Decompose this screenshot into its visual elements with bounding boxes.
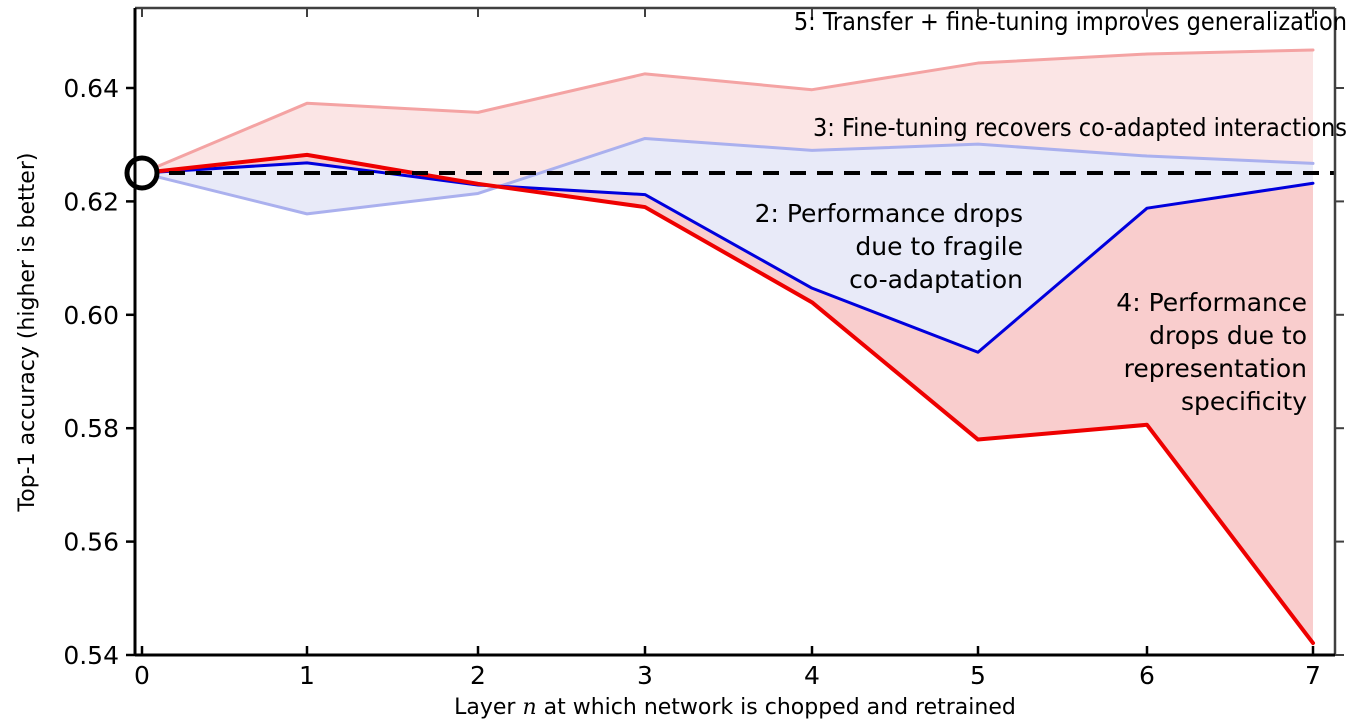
chart-figure: 0.540.560.580.600.620.6401234567 Top-1 a… [0, 0, 1361, 723]
y-tick-label: 0.56 [63, 528, 119, 557]
x-tick-label: 3 [637, 661, 653, 690]
annot-4-line: representation [1124, 354, 1307, 383]
x-tick-label: 6 [1139, 661, 1155, 690]
annot-3-line: 3: Fine-tuning recovers co-adapted inter… [813, 113, 1347, 142]
y-tick-label: 0.58 [63, 414, 119, 443]
x-axis-title-after: at which network is chopped and retraine… [537, 695, 1016, 720]
annot-5-line: 5: Transfer + fine-tuning improves gener… [794, 7, 1347, 36]
x-tick-label: 1 [299, 661, 315, 690]
chart-canvas: 0.540.560.580.600.620.6401234567 Top-1 a… [0, 0, 1361, 723]
x-tick-label: 2 [470, 661, 486, 690]
origin-circle-marker [127, 158, 157, 188]
x-axis-title: Layer n at which network is chopped and … [454, 695, 1016, 720]
annot-5: 5: Transfer + fine-tuning improves gener… [794, 7, 1347, 36]
y-tick-label: 0.60 [63, 301, 119, 330]
y-tick-label: 0.64 [63, 74, 119, 103]
y-tick-label: 0.54 [63, 641, 119, 670]
y-axis-title: Top-1 accuracy (higher is better) [15, 153, 40, 513]
x-tick-label: 0 [134, 661, 150, 690]
annot-2-line: co-adaptation [849, 265, 1023, 294]
x-axis-title-before: Layer [454, 695, 522, 720]
annot-3: 3: Fine-tuning recovers co-adapted inter… [813, 113, 1347, 142]
y-tick-label: 0.62 [63, 187, 119, 216]
x-tick-label: 5 [970, 661, 986, 690]
annot-2-line: 2: Performance drops [755, 199, 1023, 228]
annot-4-line: drops due to [1149, 321, 1307, 350]
annot-4-line: 4: Performance [1116, 288, 1307, 317]
x-tick-label: 7 [1305, 661, 1321, 690]
annot-2-line: due to fragile [855, 232, 1023, 261]
annot-4-line: specificity [1181, 387, 1307, 416]
x-tick-label: 4 [804, 661, 820, 690]
x-axis-title-italic-n: n [522, 695, 536, 720]
